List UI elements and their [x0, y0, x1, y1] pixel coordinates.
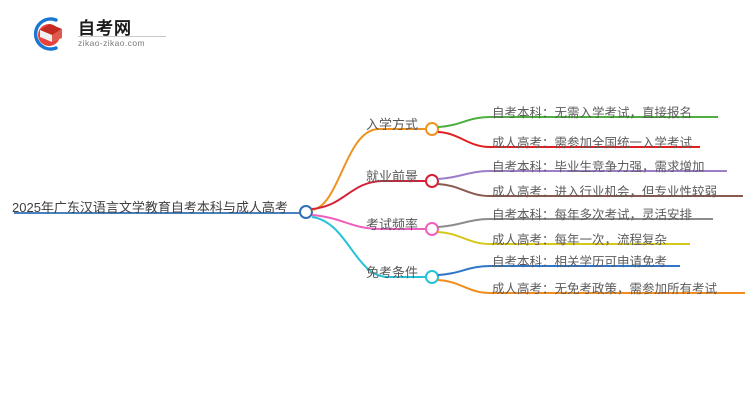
site-logo: 自考网 zikao-zikao.com: [26, 12, 166, 56]
leaf-label-frequency-self-study[interactable]: 自考本科：每年多次考试，灵活安排: [492, 204, 692, 223]
branch-curve-2: [312, 181, 425, 209]
branch-label-exam-frequency[interactable]: 考试频率: [366, 214, 418, 233]
branch-node-1: [426, 123, 438, 135]
leaf-label-frequency-adult-exam[interactable]: 成人高考：每年一次，流程复杂: [492, 229, 667, 248]
leaf-label-entry-adult-exam[interactable]: 成人高考：需参加全国统一入学考试: [492, 132, 692, 151]
logo-divider: [78, 36, 166, 37]
leaf-label-entry-self-study[interactable]: 自考本科：无需入学考试，直接报名: [492, 102, 692, 121]
leaf-label-exemption-adult-exam[interactable]: 成人高考：无免考政策，需参加所有考试: [492, 278, 717, 297]
branch-node-4: [426, 271, 438, 283]
branch-label-employment-outlook[interactable]: 就业前景: [366, 166, 418, 185]
branch-node-3: [426, 223, 438, 235]
leaf-label-employment-adult-exam[interactable]: 成人高考：进入行业机会，但专业性较弱: [492, 181, 717, 200]
graduation-cap-icon: [26, 14, 70, 54]
logo-url: zikao-zikao.com: [78, 38, 145, 48]
branch-node-2: [426, 175, 438, 187]
root-node-circle: [300, 206, 312, 218]
branch-label-entry-method[interactable]: 入学方式: [366, 114, 418, 133]
leaf-label-employment-self-study[interactable]: 自考本科：毕业生竞争力强，需求增加: [492, 156, 705, 175]
root-node-label[interactable]: 2025年广东汉语言文学教育自考本科与成人高考: [12, 197, 288, 216]
branch-label-exemption-conditions[interactable]: 免考条件: [366, 262, 418, 281]
leaf-label-exemption-self-study[interactable]: 自考本科：相关学历可申请免考: [492, 251, 667, 270]
